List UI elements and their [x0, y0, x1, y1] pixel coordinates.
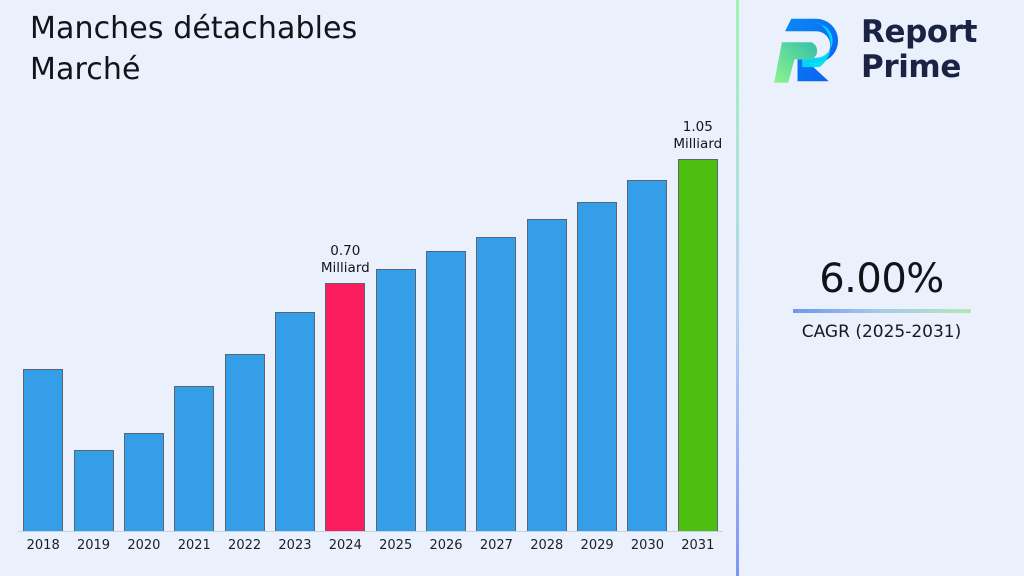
chart-panel: Manches détachables Marché 0.70 Milliard… [0, 0, 737, 576]
bar-2022[interactable] [225, 120, 265, 532]
x-axis-line [18, 531, 723, 532]
cagr-value: 6.00% [739, 255, 1024, 303]
bar-rect-2025[interactable] [376, 269, 416, 532]
bar-rect-2021[interactable] [174, 386, 214, 532]
x-axis-labels: 2018201920202021202220232024202520262027… [18, 538, 723, 564]
bar-rect-2027[interactable] [476, 237, 516, 532]
chart-plot-area: 0.70 Milliard1.05 Milliard [18, 120, 723, 532]
bar-rect-2029[interactable] [577, 202, 617, 532]
bar-rect-2020[interactable] [124, 433, 164, 532]
bar-rect-2022[interactable] [225, 354, 265, 532]
bar-rect-2024[interactable] [325, 283, 365, 532]
info-panel: Report Prime 6.00% CAGR (2025-2031) [739, 0, 1024, 576]
bar-chart: 0.70 Milliard1.05 Milliard 2018201920202… [0, 0, 737, 576]
bar-2030[interactable] [627, 120, 667, 532]
bar-2025[interactable] [376, 120, 416, 532]
bar-2019[interactable] [74, 120, 114, 532]
bar-2029[interactable] [577, 120, 617, 532]
bar-2020[interactable] [124, 120, 164, 532]
brand-logo-text: Report Prime [861, 15, 977, 85]
bar-rect-2028[interactable] [527, 219, 567, 532]
bar-2031[interactable]: 1.05 Milliard [678, 120, 718, 532]
cagr-caption: CAGR (2025-2031) [739, 321, 1024, 343]
bar-2018[interactable] [23, 120, 63, 532]
screenshot-root: Manches détachables Marché 0.70 Milliard… [0, 0, 1024, 576]
bar-rect-2019[interactable] [74, 450, 114, 532]
bar-rect-2026[interactable] [426, 251, 466, 532]
cagr-block: 6.00% CAGR (2025-2031) [739, 255, 1024, 343]
bar-rect-2030[interactable] [627, 180, 667, 532]
bar-rect-2018[interactable] [23, 369, 63, 532]
bar-2024[interactable]: 0.70 Milliard [325, 120, 365, 532]
x-tick-2031: 2031 [668, 538, 728, 553]
bar-2021[interactable] [174, 120, 214, 532]
bar-2023[interactable] [275, 120, 315, 532]
bar-rect-2023[interactable] [275, 312, 315, 532]
bar-rect-2031[interactable] [678, 159, 718, 532]
bar-2027[interactable] [476, 120, 516, 532]
bar-2028[interactable] [527, 120, 567, 532]
report-prime-r-mark-icon [771, 10, 849, 90]
bar-2026[interactable] [426, 120, 466, 532]
brand-logo: Report Prime [771, 10, 977, 90]
cagr-divider-rule [793, 309, 971, 313]
